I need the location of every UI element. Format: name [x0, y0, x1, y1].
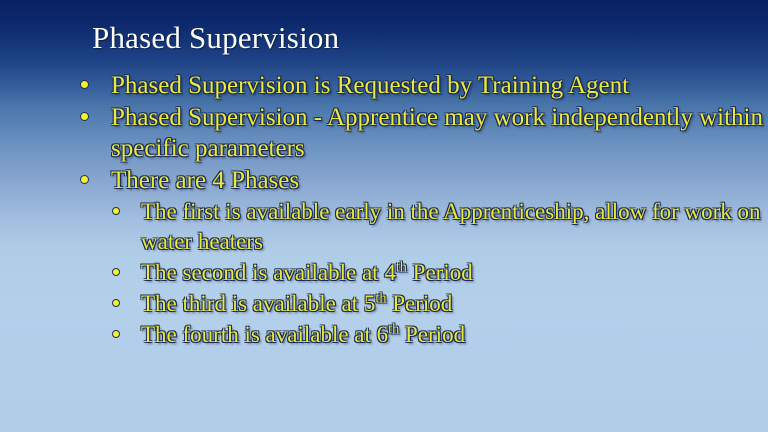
ordinal-superscript: th: [396, 259, 407, 275]
bullet-text: Phased Supervision - Apprentice may work…: [111, 102, 768, 164]
sub-bullet-marker-icon: [112, 299, 120, 307]
sub-bullet-text-before: The fourth is available at 6: [141, 322, 388, 347]
bullet-item: Phased Supervision is Requested by Train…: [0, 70, 768, 101]
sub-bullet-text-after: Period: [387, 291, 453, 316]
sub-bullet-item: The first is available early in the Appr…: [0, 197, 768, 257]
sub-bullet-item: The second is available at 4th Period: [0, 258, 768, 288]
sub-bullet-marker-icon: [112, 268, 120, 276]
sub-bullet-text-before: The second is available at 4: [141, 260, 396, 285]
slide-body-bullet-list: Phased Supervision is Requested by Train…: [0, 70, 768, 351]
sub-bullet-text: The second is available at 4th Period: [141, 258, 768, 288]
bullet-text: Phased Supervision is Requested by Train…: [111, 70, 768, 101]
sub-bullet-text: The third is available at 5th Period: [141, 289, 768, 319]
slide-title: Phased Supervision: [92, 20, 339, 56]
bullet-item: There are 4 Phases: [0, 165, 768, 196]
bullet-item: Phased Supervision - Apprentice may work…: [0, 102, 768, 164]
bullet-text: There are 4 Phases: [111, 165, 768, 196]
sub-bullet-text-before: The third is available at 5: [141, 291, 375, 316]
sub-bullet-text-after: Period: [407, 260, 473, 285]
bullet-marker-icon: [80, 112, 89, 121]
sub-bullet-item: The third is available at 5th Period: [0, 289, 768, 319]
sub-bullet-text: The fourth is available at 6th Period: [141, 320, 768, 350]
bullet-marker-icon: [80, 80, 89, 89]
bullet-marker-icon: [80, 175, 89, 184]
sub-bullet-marker-icon: [112, 330, 120, 338]
sub-bullet-marker-icon: [112, 207, 120, 215]
presentation-slide: Phased Supervision Phased Supervision is…: [0, 0, 768, 432]
ordinal-superscript: th: [388, 321, 399, 337]
ordinal-superscript: th: [375, 290, 386, 306]
sub-bullet-text-after: Period: [399, 322, 465, 347]
sub-bullet-text: The first is available early in the Appr…: [141, 197, 768, 257]
sub-bullet-item: The fourth is available at 6th Period: [0, 320, 768, 350]
